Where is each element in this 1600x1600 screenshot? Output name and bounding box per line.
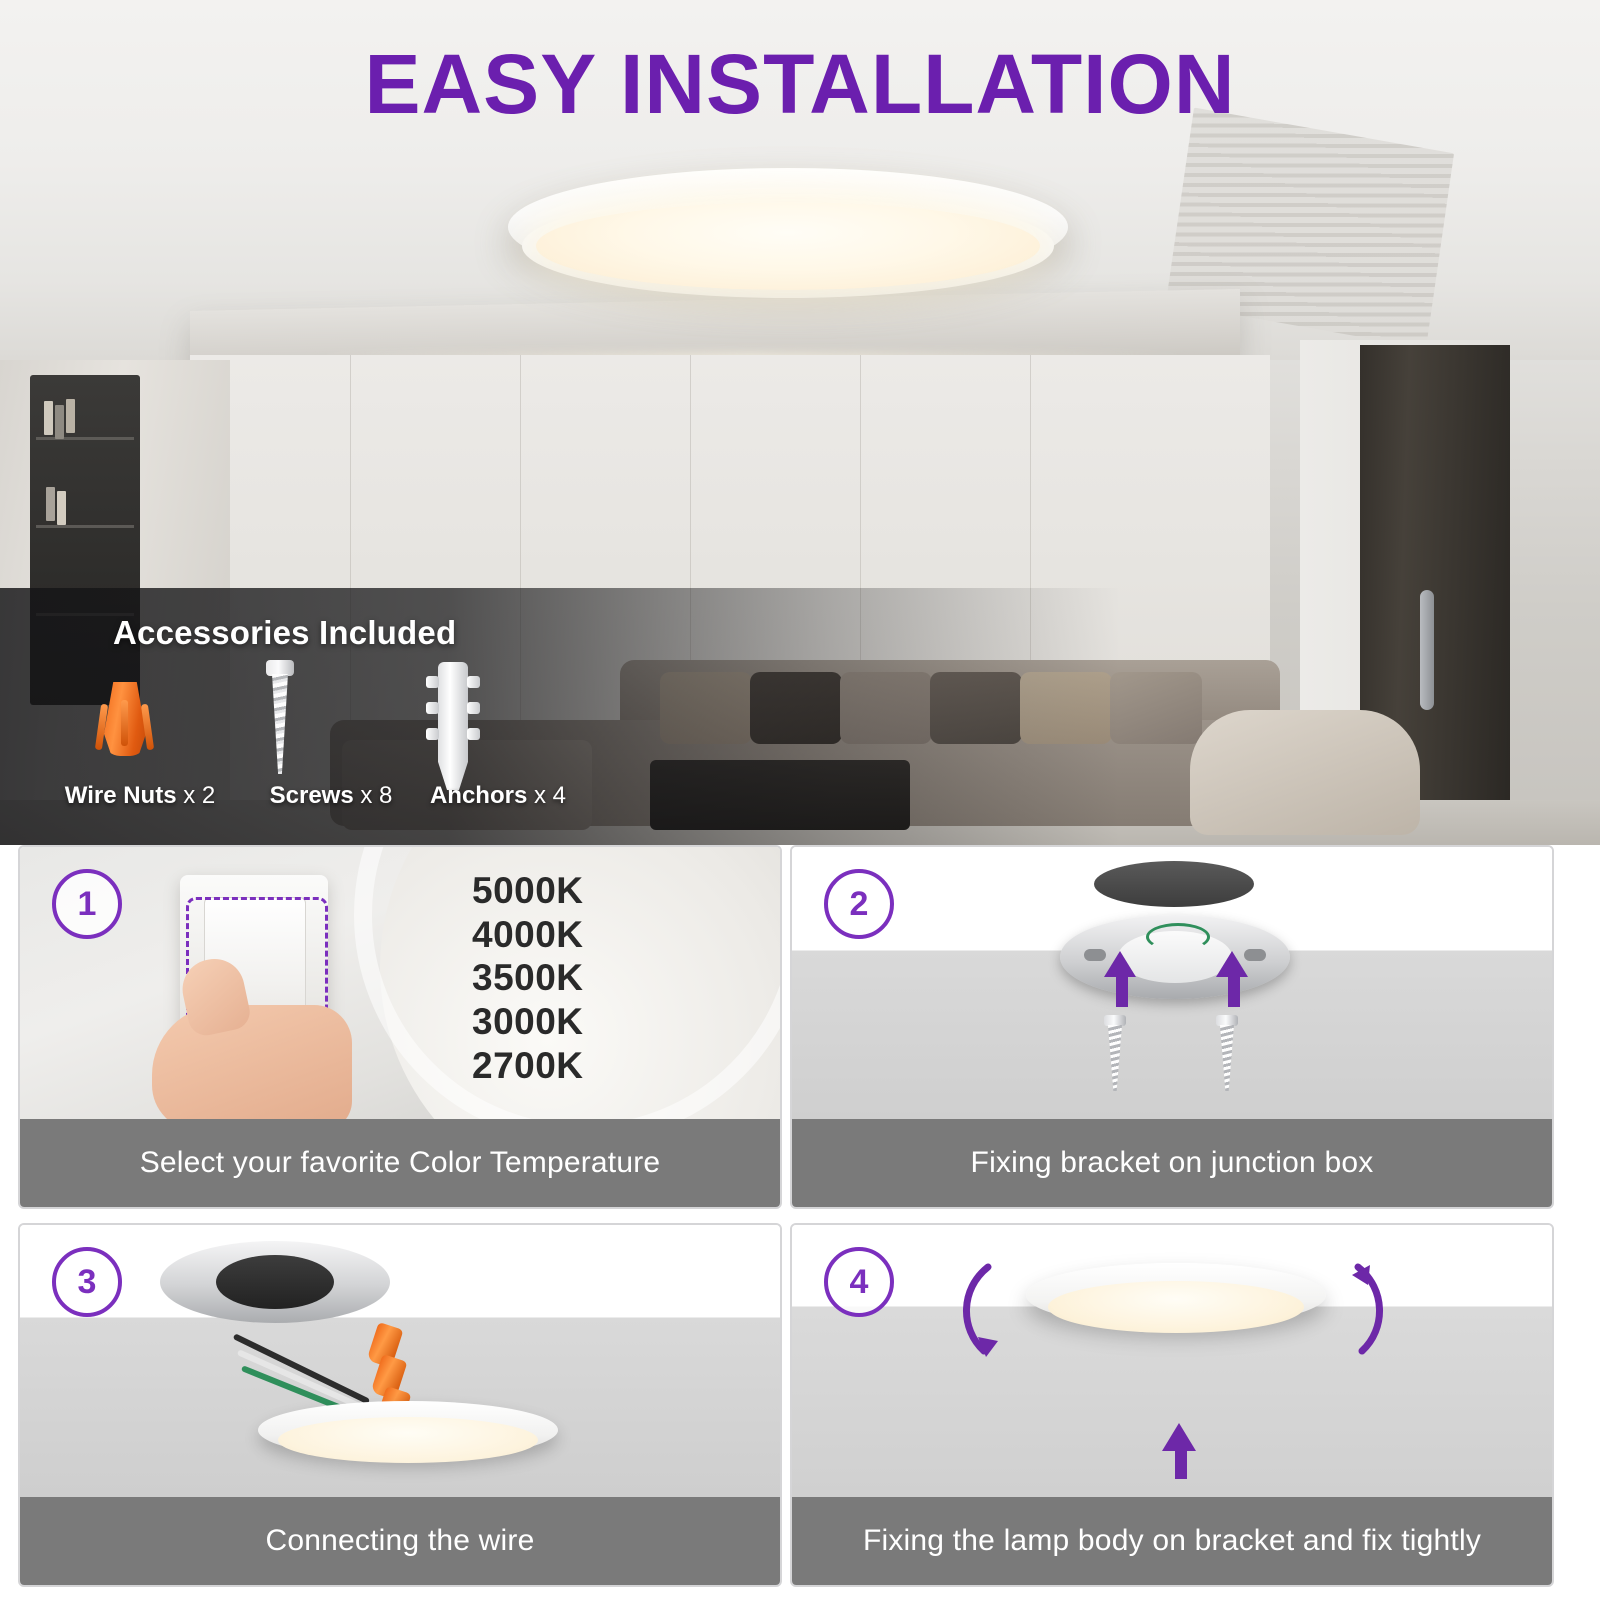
step-3-caption-bar: Connecting the wire	[20, 1497, 780, 1585]
temp-option: 4000K	[472, 913, 722, 957]
mounting-bracket	[160, 1241, 390, 1323]
accessories-overlay: Accessories Included Wire Nuts x 2	[0, 588, 1600, 845]
wire-nut-icon	[96, 674, 154, 770]
accessories-list: Wire Nuts x 2 Screws x 8	[40, 660, 560, 820]
step-3-illustration	[20, 1225, 780, 1497]
rotation-arrows	[792, 1225, 1552, 1497]
step-caption: Connecting the wire	[256, 1524, 545, 1558]
step-number-badge-1: 1	[52, 869, 122, 939]
page-title: EASY INSTALLATION	[0, 36, 1600, 133]
color-temperature-list: 5000K 4000K 3500K 3000K 2700K	[472, 869, 722, 1087]
step-caption: Select your favorite Color Temperature	[130, 1146, 671, 1180]
accessory-label: Wire Nuts x 2	[40, 782, 240, 810]
push-up-arrow	[1162, 1423, 1196, 1451]
lamp-body	[258, 1401, 558, 1473]
step-number-badge-2: 2	[824, 869, 894, 939]
step-4-illustration	[792, 1225, 1552, 1497]
anchor-icon	[426, 662, 480, 792]
step-number-badge-4: 4	[824, 1247, 894, 1317]
screw-icon	[1104, 1015, 1126, 1093]
ground-wire	[1146, 923, 1210, 951]
screw-icon	[1216, 1015, 1238, 1093]
step-number-badge-3: 3	[52, 1247, 122, 1317]
step-2-caption-bar: Fixing bracket on junction box	[792, 1119, 1552, 1207]
junction-box	[1094, 861, 1254, 907]
step-card-4: 4 Fixing the lamp body on bracket and fi…	[790, 1223, 1554, 1587]
step-number: 2	[850, 887, 869, 921]
step-caption: Fixing the lamp body on bracket and fix …	[853, 1524, 1491, 1558]
step-1-caption-bar: Select your favorite Color Temperature	[20, 1119, 780, 1207]
temp-option: 5000K	[472, 869, 722, 913]
temp-option: 3500K	[472, 956, 722, 1000]
step-number: 1	[78, 887, 97, 921]
step-number: 4	[850, 1265, 869, 1299]
step-card-1: 5000K 4000K 3500K 3000K 2700K 1 Select y…	[18, 845, 782, 1209]
screw-icon	[260, 660, 300, 792]
steps-grid: 5000K 4000K 3500K 3000K 2700K 1 Select y…	[0, 845, 1600, 1600]
step-caption: Fixing bracket on junction box	[961, 1146, 1384, 1180]
mounting-bracket	[1060, 915, 1290, 999]
step-card-3: 3 Connecting the wire	[18, 1223, 782, 1587]
accessories-heading: Accessories Included	[113, 614, 456, 652]
temp-option: 2700K	[472, 1044, 722, 1088]
step-4-caption-bar: Fixing the lamp body on bracket and fix …	[792, 1497, 1552, 1585]
accessory-label: Anchors x 4	[398, 782, 598, 810]
step-card-2: 2 Fixing bracket on junction box	[790, 845, 1554, 1209]
ceiling-light-product	[508, 168, 1068, 304]
step-2-illustration	[792, 847, 1552, 1119]
infographic-page: Accessories Included Wire Nuts x 2	[0, 0, 1600, 1600]
step-1-illustration: 5000K 4000K 3500K 3000K 2700K	[20, 847, 780, 1119]
temp-option: 3000K	[472, 1000, 722, 1044]
step-number: 3	[78, 1265, 97, 1299]
hand-pointing	[140, 959, 370, 1119]
